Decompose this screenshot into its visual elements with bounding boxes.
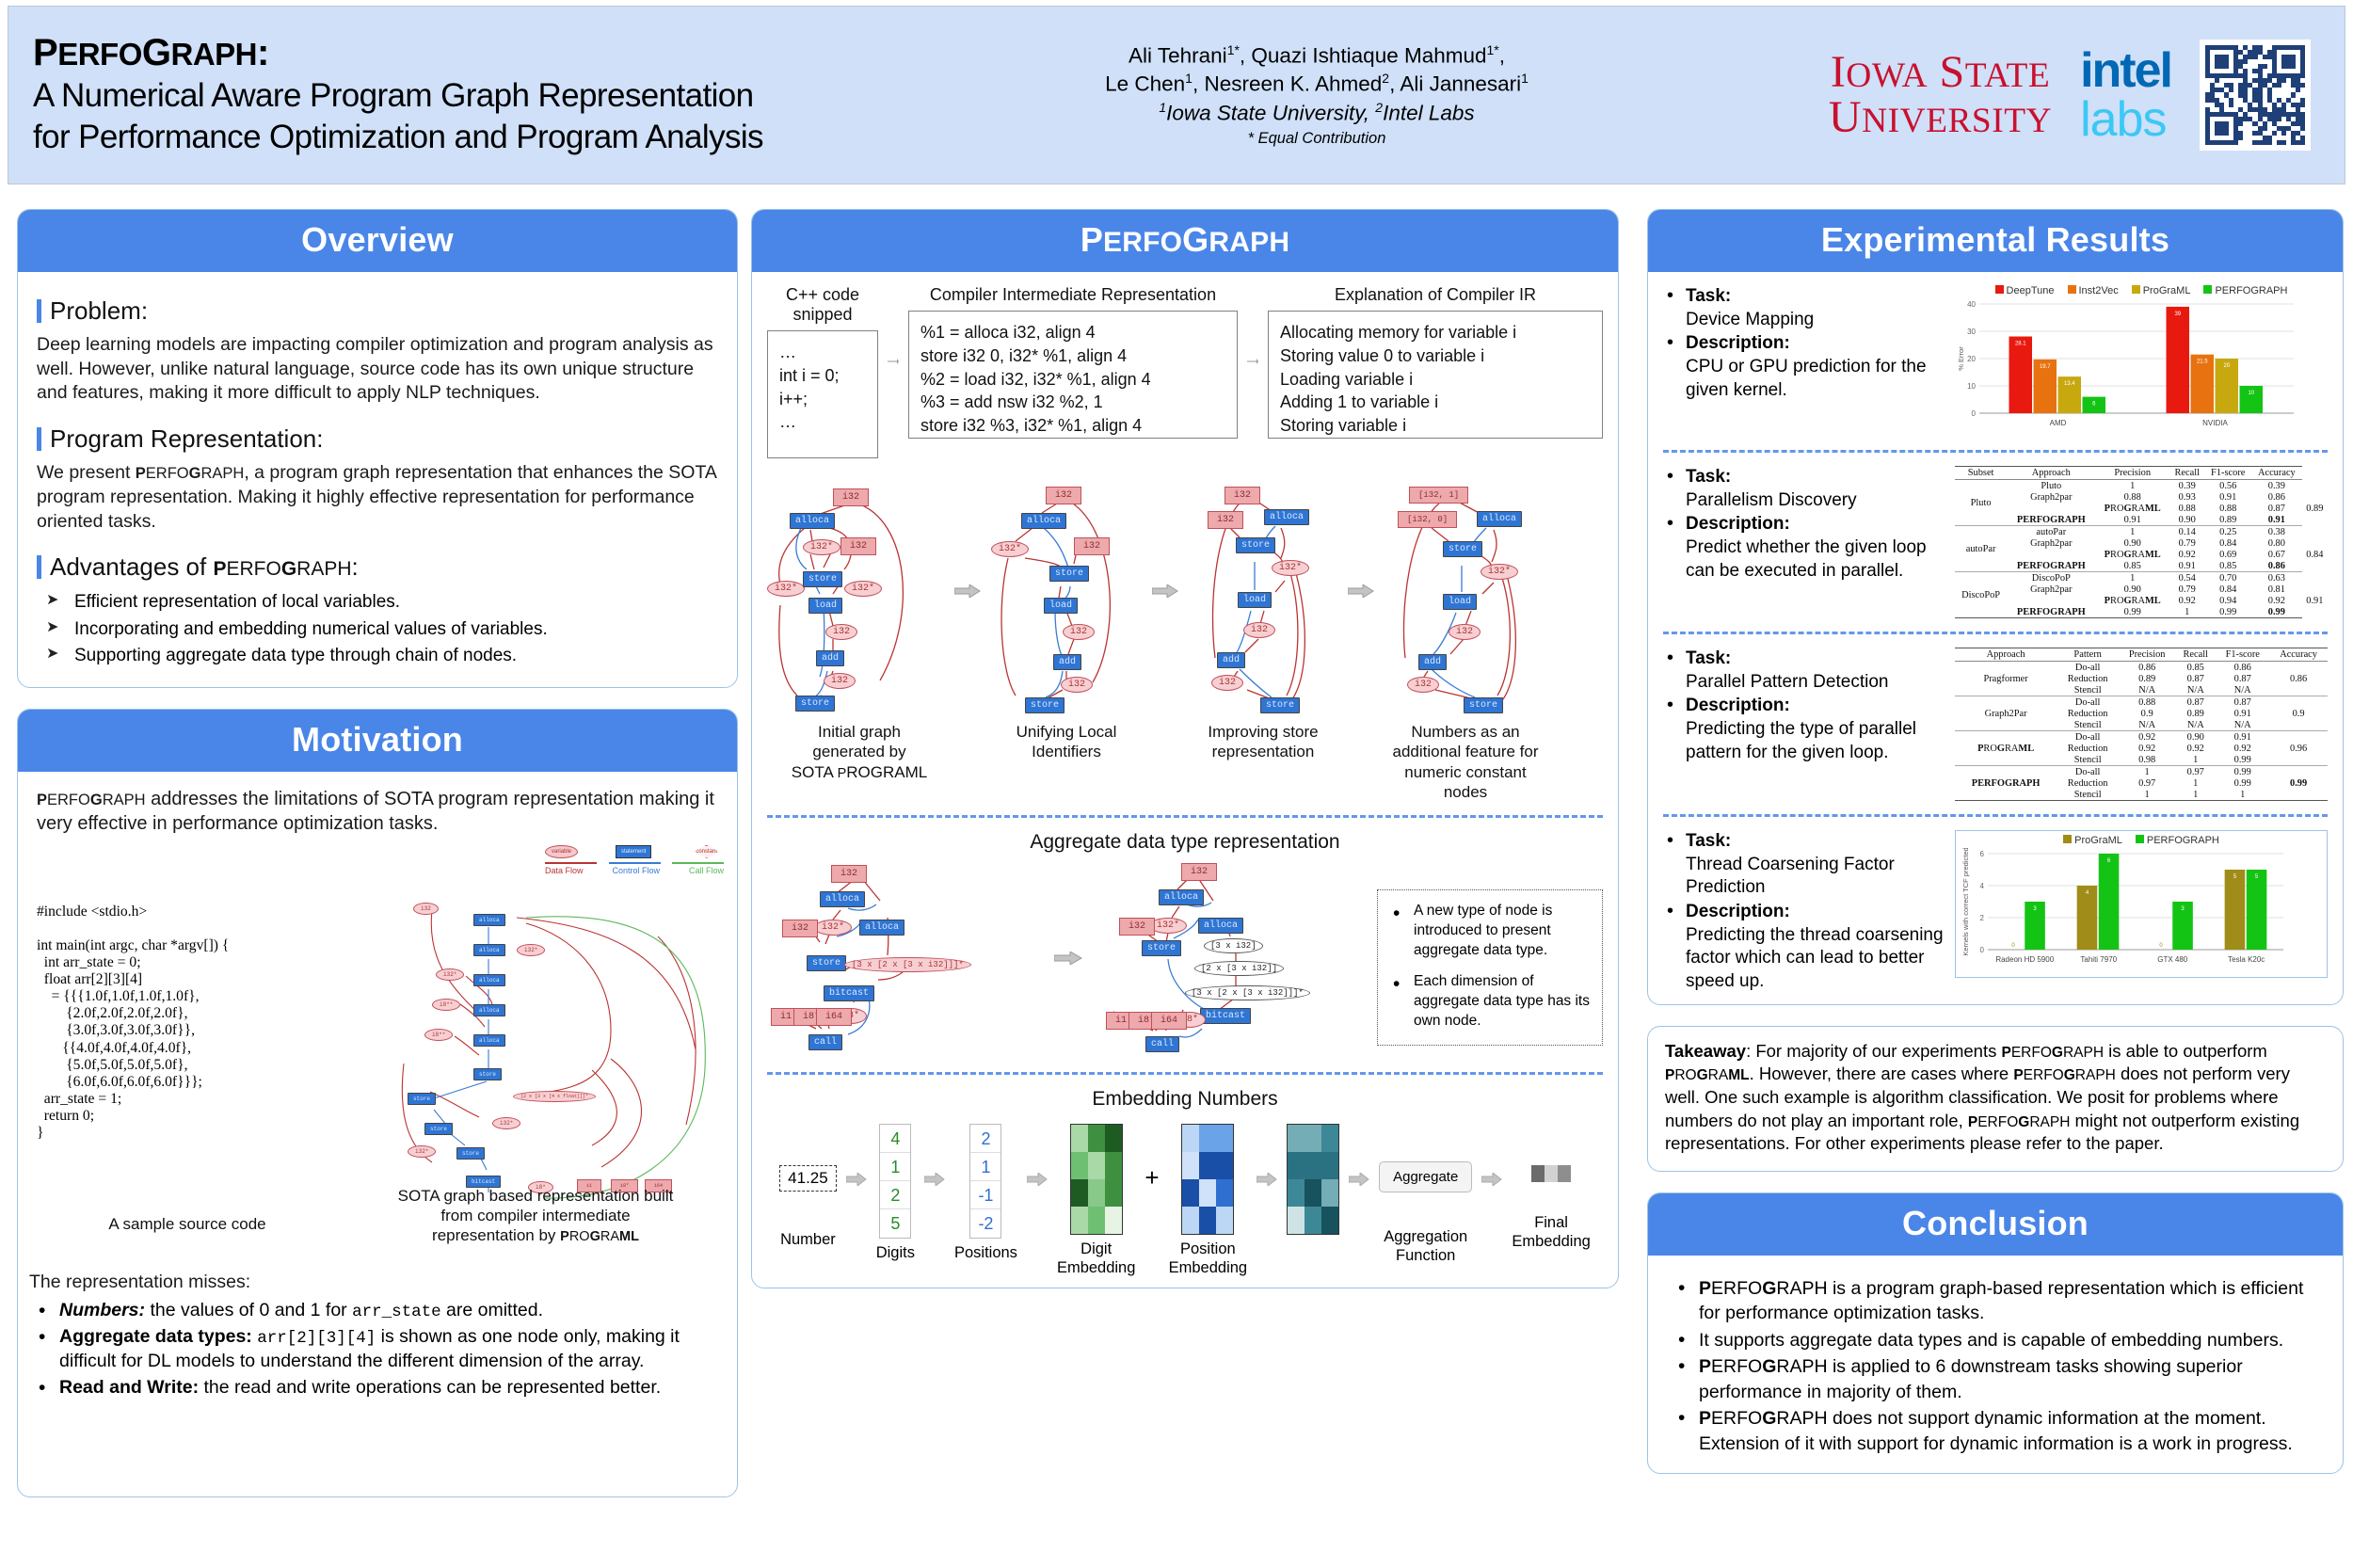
embedding-cell xyxy=(1305,1152,1321,1179)
legend-constant-icon: constant xyxy=(689,845,724,858)
cell-approach xyxy=(1955,696,2057,709)
cell: 0.88 xyxy=(2095,491,2169,503)
overview-representation-heading: Program Representation: xyxy=(37,424,718,454)
cell: Graph2par xyxy=(2007,537,2095,549)
cell: Reduction xyxy=(2057,777,2119,789)
embedding-cell xyxy=(1088,1179,1105,1207)
table-row: Graph2ParReduction0.90.890.910.9 xyxy=(1955,708,2328,719)
cell-subset: Pluto xyxy=(1955,491,2007,514)
cell: 0.91 xyxy=(2302,595,2328,606)
legend-entry: PERFOGRAPH xyxy=(2136,835,2219,846)
cell: 0.81 xyxy=(2251,584,2302,595)
graph-stage-4-caption: Numbers as anadditional feature for nume… xyxy=(1377,722,1554,802)
cell-approach xyxy=(1955,719,2057,731)
embedding-cell xyxy=(1216,1207,1233,1234)
embedding-cell xyxy=(1088,1152,1105,1179)
cell: 1 xyxy=(2119,789,2175,801)
cell-accuracy xyxy=(2269,766,2328,778)
motivation-source-caption: A sample source code xyxy=(37,1214,338,1234)
cell: 0.87 xyxy=(2175,673,2216,684)
embedding-label: DigitEmbedding xyxy=(1057,1240,1135,1278)
list-item: A new type of node is introduced to pres… xyxy=(1387,902,1593,961)
cell: 0.63 xyxy=(2251,572,2302,584)
chart-legend: DeepTuneInst2VecProGraMLPERFOGRAPH xyxy=(1955,285,2328,296)
cell-approach xyxy=(1955,766,2057,778)
cell-subset xyxy=(1955,572,2007,584)
embedding-cell xyxy=(1088,1207,1105,1234)
cell: 0.14 xyxy=(2169,526,2204,538)
graph-node-store: store xyxy=(424,1123,453,1135)
cell-approach xyxy=(1955,731,2057,744)
cell: Stencil xyxy=(2057,719,2119,731)
cell: 0.98 xyxy=(2119,754,2175,766)
cell: 0.99 xyxy=(2095,606,2169,618)
cell: Stencil xyxy=(2057,684,2119,696)
divider xyxy=(1663,632,2328,634)
overview-problem-heading: Problem: xyxy=(37,296,718,326)
table-row: DiscoPoPGraph2par0.900.790.840.81 xyxy=(1955,584,2328,595)
position-cell: 2 xyxy=(970,1125,1000,1153)
graph-stage-1: i32 alloca i32* i32 i32* store i32* load… xyxy=(767,483,952,782)
ir-explanation-row: C++ code snipped … int i = 0; i++; … Com… xyxy=(767,285,1603,458)
cell: 0.89 xyxy=(2204,514,2251,526)
table-row: Stencil111 xyxy=(1955,789,2328,801)
cell: Graph2par xyxy=(2007,491,2095,503)
column-header: Subset xyxy=(1955,467,2007,480)
embedding-cell xyxy=(1305,1179,1321,1207)
cell-subset xyxy=(1955,526,2007,538)
cell: 0.79 xyxy=(2169,584,2204,595)
svg-text:0: 0 xyxy=(1972,409,1977,418)
cell-accuracy xyxy=(2269,754,2328,766)
title-subline-1: A Numerical Aware Program Graph Represen… xyxy=(33,76,1034,117)
cell: 0.87 xyxy=(2175,696,2216,709)
table-row: Stencil0.9810.99 xyxy=(1955,754,2328,766)
cell: 0.88 xyxy=(2204,503,2251,514)
result-description: Description:Predict whether the given lo… xyxy=(1663,513,1945,583)
embedding-label: FinalEmbedding xyxy=(1512,1214,1590,1252)
embedding-cell xyxy=(1199,1152,1216,1179)
column-header: Approach xyxy=(2007,467,2095,480)
cell: 0.25 xyxy=(2204,526,2251,538)
cell-subset xyxy=(1955,606,2007,618)
svg-text:Radeon HD 5900: Radeon HD 5900 xyxy=(1995,955,2054,964)
overview-advantages-list: Efficient representation of local variab… xyxy=(42,589,718,670)
table-row: PROGRAML0.920.940.920.91 xyxy=(1955,595,2328,606)
cell: 0.87 xyxy=(2216,673,2269,684)
cell: Do-all xyxy=(2057,766,2119,778)
embedding-cell xyxy=(1071,1207,1088,1234)
column-header: Accuracy xyxy=(2269,648,2328,662)
embedding-cell xyxy=(1321,1125,1338,1152)
svg-text:GTX 480: GTX 480 xyxy=(2157,955,2188,964)
graph-node-alloca: alloca xyxy=(473,914,505,926)
graph-node-var: i32* xyxy=(517,944,545,956)
number-value: 41.25 xyxy=(779,1165,837,1192)
code-line: … xyxy=(779,410,866,434)
table-row: StencilN/AN/AN/A xyxy=(1955,684,2328,696)
aggregate-button[interactable]: Aggregate xyxy=(1379,1161,1472,1192)
aggregate-graph-right: i32 alloca i32* alloca i32 store [3 x i3… xyxy=(1087,861,1369,1059)
embedding-cell xyxy=(1071,1125,1088,1152)
cell: 0.92 xyxy=(2169,549,2204,560)
intel-wordmark: intel xyxy=(2080,46,2171,95)
cell: 0.91 xyxy=(2095,514,2169,526)
cell: DiscoPoP xyxy=(2007,572,2095,584)
column-left: Overview Problem: Deep learning models a… xyxy=(17,209,738,1518)
panel-motivation: Motivation PERFOGRAPH addresses the limi… xyxy=(17,709,738,1497)
graph-node-alloca: alloca xyxy=(473,974,505,986)
embedding-cell xyxy=(1288,1152,1305,1179)
overview-representation-text: We present PERFOGRAPH, a program graph r… xyxy=(37,461,718,534)
svg-text:10: 10 xyxy=(2248,391,2254,396)
cell: 0.90 xyxy=(2095,537,2169,549)
program-graph-svg xyxy=(376,899,714,1209)
embedding-label: Positions xyxy=(954,1244,1017,1263)
cell: Reduction xyxy=(2057,708,2119,719)
embedding-number: 41.25 Number xyxy=(779,1124,837,1250)
cell-accuracy xyxy=(2269,719,2328,731)
poster-root: PERFOGRAPH: A Numerical Aware Program Gr… xyxy=(0,0,2353,1568)
cell: 0.97 xyxy=(2119,777,2175,789)
svg-text:20: 20 xyxy=(2223,363,2230,369)
list-item: Aggregate data types: arr[2][3][4] is sh… xyxy=(33,1325,707,1374)
cell: 0.99 xyxy=(2216,777,2269,789)
table-row: Do-all10.970.99 xyxy=(1955,766,2328,778)
graph-legend: variable statement constant Data Flow Co… xyxy=(545,845,724,875)
list-item: PERFOGRAPH is a program graph-based repr… xyxy=(1673,1276,2322,1326)
panel-results-title: Experimental Results xyxy=(1648,210,2343,272)
cell: 0.97 xyxy=(2175,766,2216,778)
misses-list: Numbers: the values of 0 and 1 for arr_s… xyxy=(33,1299,707,1400)
title-block: PERFOGRAPH: A Numerical Aware Program Gr… xyxy=(8,32,1034,158)
list-item: It supports aggregate data types and is … xyxy=(1673,1328,2322,1353)
list-item: Efficient representation of local variab… xyxy=(42,589,718,616)
cell: 0.99 xyxy=(2216,766,2269,778)
table-row: StencilN/AN/AN/A xyxy=(1955,719,2328,731)
explanation-label: Explanation of Compiler IR xyxy=(1268,285,1603,305)
panel-conclusion-title: Conclusion xyxy=(1648,1193,2343,1256)
logo-group: IOWA STATE UNIVERSITY intel labs xyxy=(1599,40,2345,151)
svg-text:28.1: 28.1 xyxy=(2015,342,2026,347)
graph-stage-1-caption: Initial graphgenerated by SOTA PROGRAML xyxy=(767,722,952,782)
code-line: int i = 0; xyxy=(779,364,866,388)
list-item: Supporting aggregate data type through c… xyxy=(42,643,718,670)
svg-text:20: 20 xyxy=(1967,355,1976,363)
graph-stages-row: i32 alloca i32* i32 i32* store i32* load… xyxy=(767,483,1603,802)
cell: Stencil xyxy=(2057,789,2119,801)
column-header: Recall xyxy=(2169,467,2204,480)
cell: 0.90 xyxy=(2169,514,2204,526)
graph-node-alloca: alloca xyxy=(473,944,505,956)
graph-node-var: i32* xyxy=(408,1145,436,1158)
digit-embedding-grid xyxy=(1070,1124,1123,1235)
graph-stage-2-caption: Unifying LocalIdentifiers xyxy=(984,722,1149,762)
result-task: Task:Parallelism Discovery xyxy=(1663,466,1945,512)
cell: PROGRAML xyxy=(2095,595,2169,606)
embedding-cell xyxy=(1105,1179,1122,1207)
table-row: PERFOGRAPH0.9910.990.99 xyxy=(1955,606,2328,618)
aggregate-dim-node: [3 x [2 x [3 x i32]]]* xyxy=(1185,985,1310,1000)
table-row: DiscoPoP10.540.700.63 xyxy=(1955,572,2328,584)
aggregate-dim-node: [2 x [3 x i32]] xyxy=(1194,961,1284,976)
embedding-cell xyxy=(1321,1179,1338,1207)
code-line: store i32 0, i32* %1, align 4 xyxy=(920,344,1225,368)
cell: 1 xyxy=(2095,526,2169,538)
list-item: PERFOGRAPH is applied to 6 downstream ta… xyxy=(1673,1354,2322,1404)
cell: 0.67 xyxy=(2251,549,2302,560)
code-line: %3 = add nsw i32 %2, 1 xyxy=(920,391,1225,414)
author-block: Ali Tehrani1*, Quazi Ishtiaque Mahmud1*,… xyxy=(1034,41,1599,150)
svg-text:0: 0 xyxy=(1980,946,1985,954)
cell-subset xyxy=(2007,595,2095,606)
stage-arrow-3 xyxy=(1345,483,1377,602)
cell-accuracy: 0.99 xyxy=(2269,777,2328,789)
cell: 0.86 xyxy=(2251,560,2302,572)
cell: 0.39 xyxy=(2251,480,2302,492)
positions-box: 2 1 -1 -2 xyxy=(969,1124,1001,1239)
stage-arrow-1 xyxy=(952,483,984,602)
aggregate-arrow xyxy=(1049,861,1087,969)
table-row: Do-all0.880.870.87 xyxy=(1955,696,2328,709)
legend-variable-icon: variable xyxy=(545,845,578,858)
conclusion-list: PERFOGRAPH is a program graph-based repr… xyxy=(1673,1276,2322,1457)
result-task: Task:Parallel Pattern Detection xyxy=(1663,648,1945,694)
cell: 0.94 xyxy=(2204,595,2251,606)
cell: N/A xyxy=(2216,684,2269,696)
misses-heading: The representation misses: xyxy=(29,1271,707,1295)
cell: 0.91 xyxy=(2216,731,2269,744)
explanation-box: Allocating memory for variable i Storing… xyxy=(1268,311,1603,439)
cell: Reduction xyxy=(2057,743,2119,754)
embedding-digits: 4 1 2 5 Digits xyxy=(876,1124,915,1263)
parallelism-table: SubsetApproachPrecisionRecallF1-scoreAcc… xyxy=(1955,466,2328,618)
cell: 0.91 xyxy=(2251,514,2302,526)
table-row: PragformerReduction0.890.870.870.86 xyxy=(1955,673,2328,684)
qr-code-icon[interactable] xyxy=(2200,40,2311,151)
cell-accuracy xyxy=(2269,662,2328,674)
pipeline-arrow-icon xyxy=(924,1167,945,1192)
result-task: Task:Device Mapping xyxy=(1663,285,1945,331)
equal-contribution-note: * Equal Contribution xyxy=(1034,128,1599,149)
svg-text:39: 39 xyxy=(2174,312,2181,317)
svg-text:Kernels with correct TCF predi: Kernels with correct TCF predicted xyxy=(1961,848,1970,956)
graph-node-var: i32 xyxy=(413,903,439,915)
panel-perfograph: PERFOGRAPH C++ code snipped … int i = 0;… xyxy=(751,209,1619,1288)
cell: 1 xyxy=(2119,766,2175,778)
cell: 0.93 xyxy=(2169,491,2204,503)
list-item: PERFOGRAPH does not support dynamic info… xyxy=(1673,1406,2322,1456)
cell: 0.86 xyxy=(2216,662,2269,674)
embedding-cell xyxy=(1216,1179,1233,1207)
cell: Graph2par xyxy=(2007,584,2095,595)
column-header: Precision xyxy=(2119,648,2175,662)
cell: 0.84 xyxy=(2204,537,2251,549)
legend-entry: PERFOGRAPH xyxy=(2203,285,2287,296)
cell: 1 xyxy=(2169,606,2204,618)
cell-accuracy xyxy=(2269,789,2328,801)
aggregate-notes-box: A new type of node is introduced to pres… xyxy=(1377,889,1603,1046)
cell: 0.89 xyxy=(2175,708,2216,719)
cell-subset xyxy=(1955,480,2007,492)
cell: 0.84 xyxy=(2302,549,2328,560)
table-row: autoPar10.140.250.38 xyxy=(1955,526,2328,538)
compiler-ir-box: %1 = alloca i32, align 4 store i32 0, i3… xyxy=(908,311,1238,439)
digits-box: 4 1 2 5 xyxy=(879,1124,911,1239)
panel-overview: Overview Problem: Deep learning models a… xyxy=(17,209,738,688)
aggregate-graph-left: i32 alloca i32* alloca i32 store [3 x [2… xyxy=(767,861,1049,1059)
svg-text:0: 0 xyxy=(2159,943,2163,949)
cell-subset: DiscoPoP xyxy=(1955,584,2007,606)
code-line: %1 = alloca i32, align 4 xyxy=(920,321,1225,344)
table-row: Do-all0.860.850.86 xyxy=(1955,662,2328,674)
svg-text:19.7: 19.7 xyxy=(2040,364,2051,370)
cell: 0.38 xyxy=(2251,526,2302,538)
cell: 0.92 xyxy=(2119,743,2175,754)
cell: N/A xyxy=(2175,719,2216,731)
intel-labs-logo: intel labs xyxy=(2080,46,2171,144)
embedding-cell xyxy=(1305,1125,1321,1152)
embedding-cell xyxy=(1199,1179,1216,1207)
result-device-mapping: Task:Device Mapping Description:CPU or G… xyxy=(1663,285,2328,437)
table-row: PERFOGRAPHReduction0.9710.990.99 xyxy=(1955,777,2328,789)
cell: Do-all xyxy=(2057,662,2119,674)
panel-overview-title: Overview xyxy=(18,210,737,272)
cell: 0.70 xyxy=(2204,572,2251,584)
legend-call-flow-label: Call Flow xyxy=(689,866,724,875)
overview-problem-text: Deep learning models are impacting compi… xyxy=(37,333,718,406)
graph-stage-3: i32 alloca i32 store i32* load i32 add i… xyxy=(1181,483,1345,762)
embedding-cell xyxy=(1216,1152,1233,1179)
cell: 0.54 xyxy=(2169,572,2204,584)
authors-line-2: Le Chen1, Nesreen K. Ahmed2, Ali Jannesa… xyxy=(1034,70,1599,99)
aggregate-title: Aggregate data type representation xyxy=(767,831,1603,854)
overview-advantages-heading: Advantages of PERFOGRAPH: xyxy=(37,552,718,582)
cell-approach xyxy=(1955,662,2057,674)
svg-text:Tesla K20c: Tesla K20c xyxy=(2228,955,2265,964)
embedding-cell xyxy=(1288,1125,1305,1152)
cell: 0.69 xyxy=(2204,549,2251,560)
embedding-cell xyxy=(1321,1207,1338,1234)
table-row: PROGRAMLReduction0.920.920.920.96 xyxy=(1955,743,2328,754)
cell: Do-all xyxy=(2057,731,2119,744)
code-line: %2 = load i32, i32* %1, align 4 xyxy=(920,368,1225,392)
position-embedding: PositionEmbedding xyxy=(1169,1124,1247,1278)
plus-icon: + xyxy=(1144,1163,1159,1192)
cell: 0.99 xyxy=(2251,606,2302,618)
takeaway-text: Takeaway: For majority of our experiment… xyxy=(1665,1040,2326,1156)
pipeline-arrow-icon xyxy=(1349,1167,1369,1192)
cell: N/A xyxy=(2119,684,2175,696)
affiliations: 1Iowa State University, 2Intel Labs xyxy=(1034,99,1599,128)
cell: 0.91 xyxy=(2204,491,2251,503)
panel-motivation-title: Motivation xyxy=(18,710,737,772)
explanation-line: Adding 1 to variable i xyxy=(1280,391,1591,414)
explanation-line: Allocating memory for variable i xyxy=(1280,321,1591,344)
cell: 1 xyxy=(2216,789,2269,801)
aggregate-dim-node: [3 x i32] xyxy=(1204,938,1263,953)
cell: 0.87 xyxy=(2251,503,2302,514)
cpp-snippet-label: C++ code snipped xyxy=(767,285,878,325)
embedding-cell xyxy=(1071,1152,1088,1179)
cell: N/A xyxy=(2216,719,2269,731)
cell-subset xyxy=(1955,514,2007,526)
digit-cell: 4 xyxy=(880,1125,910,1153)
cell: 0.89 xyxy=(2302,503,2328,514)
list-item: Numbers: the values of 0 and 1 for arr_s… xyxy=(33,1299,707,1323)
position-cell: -2 xyxy=(970,1209,1000,1238)
cell: 0.80 xyxy=(2251,537,2302,549)
table-row: PROGRAML0.880.880.870.89 xyxy=(1955,503,2328,514)
embedding-cell xyxy=(1321,1152,1338,1179)
graph-node-var: i32* xyxy=(492,1117,520,1129)
svg-text:30: 30 xyxy=(1967,328,1976,336)
cell: 1 xyxy=(2095,572,2169,584)
svg-text:4: 4 xyxy=(1980,882,1985,890)
explanation-line: Loading variable i xyxy=(1280,368,1591,392)
cell-accuracy: 0.9 xyxy=(2269,708,2328,719)
device-mapping-chart: 01020304028.119.713.46AMD3921.52010NVIDI… xyxy=(1955,298,2301,432)
column-header: F1-score xyxy=(2204,467,2251,480)
list-item: Incorporating and embedding numerical va… xyxy=(42,616,718,644)
cell: autoPar xyxy=(2007,526,2095,538)
graph-stage-4: [i32, 1] alloca [i32, 0] store i32* load… xyxy=(1377,483,1554,802)
cell-accuracy xyxy=(2269,731,2328,744)
motivation-misses: The representation misses: Numbers: the … xyxy=(29,1271,707,1401)
embedding-cell xyxy=(1105,1207,1122,1234)
graph-stage-3-caption: Improving storerepresentation xyxy=(1181,722,1345,762)
cell: 0.89 xyxy=(2119,673,2175,684)
graph-node-alloca: alloca xyxy=(473,1034,505,1047)
result-task: Task:Thread Coarsening Factor Prediction xyxy=(1663,830,1945,900)
aggregate-row: i32 alloca i32* alloca i32 store [3 x [2… xyxy=(767,861,1603,1059)
cell: 0.56 xyxy=(2204,480,2251,492)
embedding-cell xyxy=(1216,1125,1233,1152)
svg-text:2: 2 xyxy=(1980,914,1985,922)
table-row: Do-all0.920.900.91 xyxy=(1955,731,2328,744)
position-cell: -1 xyxy=(970,1181,1000,1209)
cell: Pluto xyxy=(2007,480,2095,492)
cell-approach: PROGRAML xyxy=(1955,743,2057,754)
graph-node-var: i8** xyxy=(432,999,460,1011)
embedding-cell xyxy=(1182,1179,1199,1207)
embedding-positions: 2 1 -1 -2 Positions xyxy=(954,1124,1017,1263)
motivation-intro: PERFOGRAPH addresses the limitations of … xyxy=(37,787,718,837)
cell: 0.85 xyxy=(2095,560,2169,572)
cell: 0.91 xyxy=(2169,560,2204,572)
cell: 0.79 xyxy=(2169,537,2204,549)
position-embedding-grid xyxy=(1181,1124,1234,1235)
result-description: Description:Predicting the thread coarse… xyxy=(1663,901,1945,994)
cell: Do-all xyxy=(2057,696,2119,709)
cell: 0.88 xyxy=(2169,503,2204,514)
embedding-cell xyxy=(1088,1125,1105,1152)
authors-line-1: Ali Tehrani1*, Quazi Ishtiaque Mahmud1*, xyxy=(1034,41,1599,71)
cell-accuracy: 0.96 xyxy=(2269,743,2328,754)
svg-text:6: 6 xyxy=(1980,850,1985,858)
embedding-cell xyxy=(1105,1125,1122,1152)
digit-cell: 2 xyxy=(880,1181,910,1209)
embedding-cell xyxy=(1182,1152,1199,1179)
cell-approach: Pragformer xyxy=(1955,673,2057,684)
cell: 0.92 xyxy=(2251,595,2302,606)
cell-accuracy: 0.86 xyxy=(2269,673,2328,684)
cell-approach xyxy=(1955,789,2057,801)
svg-text:13.4: 13.4 xyxy=(2064,381,2075,387)
cell: PERFOGRAPH xyxy=(2007,560,2095,572)
cell: 0.91 xyxy=(2216,708,2269,719)
thread-coarsening-chart: 024603Radeon HD 590046Tahiti 797003GTX 4… xyxy=(1960,848,2291,968)
